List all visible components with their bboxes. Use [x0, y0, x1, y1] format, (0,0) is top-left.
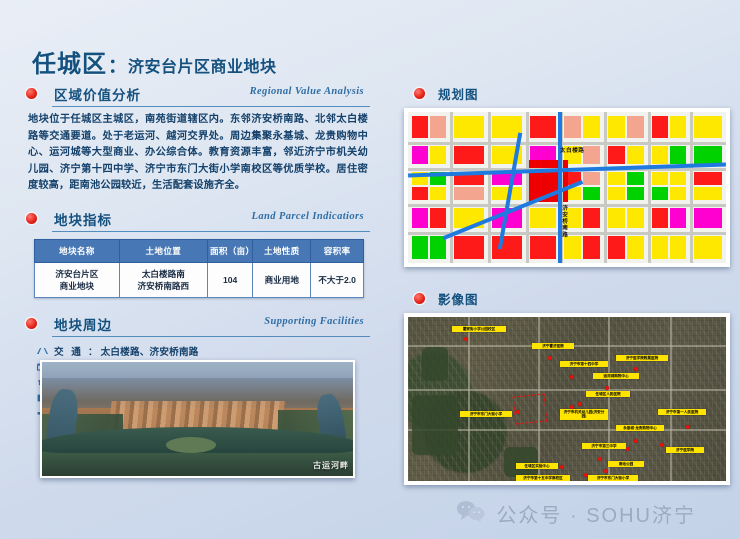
wechat-icon — [456, 500, 486, 527]
map-road-vertical — [690, 112, 693, 263]
zoning-block — [564, 236, 581, 259]
zoning-block — [652, 146, 668, 164]
zoning-block — [694, 208, 722, 228]
table-header-cell: 容积率 — [311, 239, 364, 262]
zoning-block — [670, 146, 686, 164]
footer-account-text: 公众号 · SOHU济宁 — [496, 499, 696, 528]
regional-value-paragraph: 地块位于任城区主城区，南苑街道辖区内。东邻济安桥南路、北邻太白楼路等交通要道。处… — [28, 112, 368, 195]
satellite-green-area — [504, 447, 538, 477]
satellite-poi-label[interactable]: 济宁市第一人民医院 — [658, 409, 706, 415]
zoning-block — [583, 208, 600, 228]
red-target-bullet-icon — [414, 293, 425, 304]
zoning-block — [412, 146, 428, 164]
zoning-block — [608, 187, 625, 200]
zoning-block — [627, 172, 644, 185]
map-road-vertical — [526, 112, 529, 263]
map-road-label: 济安桥南路 — [560, 205, 568, 238]
section-header-plan-map: 规划图 — [404, 84, 730, 104]
zoning-block — [608, 236, 625, 259]
zoning-block — [670, 116, 686, 138]
satellite-poi-label[interactable]: 任城区实验中心 — [516, 463, 558, 469]
red-target-bullet-icon — [26, 213, 37, 224]
satellite-poi-label[interactable]: 南池公园 — [608, 461, 644, 467]
zoning-block — [670, 172, 686, 185]
photo-riverbank — [42, 453, 353, 476]
satellite-poi-label[interactable]: 霍家街小学公园校区 — [452, 326, 506, 332]
zoning-block — [530, 236, 556, 259]
section-title-cn: 区域价值分析 — [54, 84, 141, 104]
satellite-image-map[interactable]: 霍家街小学公园校区济宁霍济医院济宁医学院附属医院济宁市第十四中学运河城购物中心任… — [404, 313, 730, 485]
satellite-poi-label[interactable]: 永基城·龙贵购物中心 — [616, 425, 664, 431]
zoning-block — [583, 172, 600, 185]
zoning-block — [583, 146, 600, 164]
satellite-poi-marker[interactable] — [634, 439, 638, 443]
satellite-poi-label[interactable]: 济宁市第十五中学南校区 — [516, 475, 570, 481]
zoning-block — [454, 146, 484, 164]
zoning-block — [627, 116, 644, 138]
section-title-cn: 规划图 — [438, 84, 479, 103]
map-road-label: 太白楼路 — [560, 146, 584, 154]
aerial-city-river-photo: 古运河畔 — [40, 360, 355, 478]
section-title-cn: 地块周边 — [54, 314, 112, 334]
satellite-poi-marker[interactable] — [598, 457, 602, 461]
zoning-block — [652, 116, 668, 138]
zoning-block — [430, 146, 446, 164]
table-cell-area: 104 — [207, 262, 252, 297]
facility-value: 太白楼路、济安桥南路 — [101, 344, 199, 358]
zoning-block — [412, 236, 428, 259]
zoning-block — [454, 116, 484, 138]
satellite-map-canvas[interactable]: 霍家街小学公园校区济宁霍济医院济宁医学院附属医院济宁市第十四中学运河城购物中心任… — [408, 317, 726, 481]
zoning-block — [652, 236, 668, 259]
satellite-green-area — [412, 395, 458, 455]
zoning-block — [430, 208, 446, 228]
facility-colon: ： — [88, 344, 98, 358]
table-header-cell: 土地性质 — [253, 239, 311, 262]
map-road-horizontal — [408, 142, 726, 145]
zoning-block — [608, 146, 625, 164]
satellite-poi-marker[interactable] — [604, 469, 608, 473]
map-road-vertical — [450, 112, 453, 263]
section-title-en: Supporting Facilities — [264, 316, 364, 327]
land-parcel-table-wrapper: 地块名称 土地位置 面积（亩） 土地性质 容积率 济安台片区 商业地块 太白楼路… — [34, 239, 364, 298]
satellite-poi-marker[interactable] — [464, 337, 468, 341]
satellite-poi-marker[interactable] — [626, 447, 630, 451]
map-road-vertical — [604, 112, 607, 263]
zoning-block — [583, 116, 600, 138]
table-cell-location: 太白楼路南 济安桥南路西 — [119, 262, 207, 297]
photo-watermark: 古运河畔 — [313, 460, 349, 471]
land-parcel-table: 地块名称 土地位置 面积（亩） 土地性质 容积率 济安台片区 商业地块 太白楼路… — [34, 239, 364, 298]
section-header-land-indicators: 地块指标 Land Parcel Indicatiors — [22, 209, 370, 231]
red-target-bullet-icon — [26, 318, 37, 329]
table-header-cell: 土地位置 — [119, 239, 207, 262]
zoning-block — [530, 208, 556, 228]
satellite-poi-label[interactable]: 济宁霍济医院 — [532, 343, 574, 349]
section-header-supporting-facilities: 地块周边 Supporting Facilities — [22, 314, 370, 336]
zoning-block — [652, 172, 668, 185]
satellite-poi-label[interactable]: 济宁医学院附属医院 — [616, 355, 668, 361]
map-road-vertical — [648, 112, 651, 263]
satellite-poi-marker[interactable] — [516, 410, 520, 414]
zoning-block — [670, 208, 686, 228]
table-header-cell: 地块名称 — [35, 239, 120, 262]
section-title-cn: 影像图 — [438, 289, 479, 308]
zoning-block — [652, 208, 668, 228]
zoning-block — [627, 208, 644, 228]
poster-page: 任城区 ： 济安台片区商业地块 区域价值分析 Regional Value An… — [0, 0, 740, 539]
zoning-block — [583, 187, 600, 200]
zoning-block — [694, 146, 722, 164]
satellite-green-area — [422, 347, 448, 381]
table-cell-land-use: 商业用地 — [253, 262, 311, 297]
zoning-block — [430, 187, 446, 200]
table-cell-parcel-name: 济安台片区 商业地块 — [35, 262, 120, 297]
zoning-block — [564, 116, 581, 138]
zoning-block — [583, 236, 600, 259]
satellite-poi-marker[interactable] — [548, 356, 552, 360]
zoning-block — [608, 116, 625, 138]
red-target-bullet-icon — [414, 88, 425, 99]
zoning-block — [412, 187, 428, 200]
zoning-block — [608, 172, 625, 185]
satellite-road — [408, 389, 726, 391]
zoning-block — [530, 116, 556, 138]
satellite-poi-marker[interactable] — [560, 465, 564, 469]
zoning-block — [412, 208, 428, 228]
section-title-en: Land Parcel Indicatiors — [252, 211, 364, 222]
zoning-block — [694, 187, 722, 200]
satellite-road — [608, 317, 610, 481]
zoning-block — [627, 187, 644, 200]
zoning-block — [627, 146, 644, 164]
zoning-block — [454, 236, 484, 259]
zoning-block — [430, 116, 446, 138]
satellite-poi-marker[interactable] — [660, 443, 664, 447]
map-road-vertical — [488, 112, 491, 263]
satellite-poi-marker[interactable] — [605, 386, 609, 390]
satellite-road — [670, 317, 672, 481]
page-title: 任城区 ： 济安台片区商业地块 — [32, 44, 277, 79]
section-header-regional-value: 区域价值分析 Regional Value Analysis — [22, 84, 370, 106]
satellite-poi-label[interactable]: 任城区人民医院 — [586, 391, 630, 397]
title-district: 任城区 — [32, 44, 107, 79]
satellite-poi-label[interactable]: 济宁市东门大街小学 — [588, 475, 638, 481]
zoning-block — [627, 236, 644, 259]
title-colon: ： — [108, 51, 127, 78]
satellite-poi-label[interactable]: 济宁市机关幼儿园(济安分园) — [560, 409, 608, 420]
zoning-block — [670, 187, 686, 200]
zoning-block — [694, 172, 722, 185]
section-rule — [52, 106, 370, 107]
title-project: 济安台片区商业地块 — [128, 53, 277, 77]
facility-key: 交 通 — [54, 344, 88, 358]
satellite-subject-parcel-outline — [513, 393, 548, 424]
satellite-poi-marker[interactable] — [686, 425, 690, 429]
table-header-cell: 面积（亩） — [207, 239, 252, 262]
section-header-satellite-map: 影像图 — [404, 289, 730, 309]
table-header-row: 地块名称 土地位置 面积（亩） 土地性质 容积率 — [35, 239, 364, 262]
table-cell-plot-ratio: 不大于2.0 — [311, 262, 364, 297]
satellite-poi-label[interactable]: 济宁医学院 — [666, 447, 704, 453]
zoning-block — [670, 236, 686, 259]
zoning-block — [492, 236, 522, 259]
list-item: 交 通 ： 太白楼路、济安桥南路 — [36, 344, 370, 360]
zoning-block — [694, 116, 722, 138]
traffic-icon — [36, 346, 49, 356]
zoning-block — [694, 236, 722, 259]
table-row: 济安台片区 商业地块 太白楼路南 济安桥南路西 104 商业用地 不大于2.0 — [35, 262, 364, 297]
satellite-road — [468, 317, 470, 481]
red-target-bullet-icon — [26, 88, 37, 99]
zoning-block — [412, 116, 428, 138]
satellite-poi-marker[interactable] — [634, 367, 638, 371]
section-rule — [52, 336, 370, 337]
satellite-poi-label[interactable]: 济宁市第十四中学 — [560, 361, 608, 367]
section-rule — [52, 231, 370, 232]
satellite-poi-label[interactable]: 济宁市第三中学 — [582, 443, 626, 449]
section-title-cn: 地块指标 — [54, 209, 112, 229]
zoning-map-canvas[interactable]: 太白楼路济安桥南路 — [408, 112, 726, 263]
zoning-block — [652, 187, 668, 200]
section-title-en: Regional Value Analysis — [250, 86, 364, 97]
right-column: 规划图 太白楼路济安桥南路 影像图 霍家街小学公园校区济宁霍济医院济宁医学院附属… — [404, 84, 730, 485]
satellite-poi-marker[interactable] — [578, 402, 582, 406]
zoning-block — [454, 187, 484, 200]
satellite-poi-label[interactable]: 运河城购物中心 — [593, 373, 639, 379]
satellite-poi-marker[interactable] — [570, 405, 574, 409]
zoning-block — [608, 208, 625, 228]
satellite-poi-label[interactable]: 济宁市东门大街小学 — [460, 411, 512, 417]
satellite-poi-marker[interactable] — [570, 375, 574, 379]
footer-bar: 公众号 · SOHU济宁 — [0, 487, 740, 539]
zoning-plan-map[interactable]: 太白楼路济安桥南路 — [404, 108, 730, 267]
